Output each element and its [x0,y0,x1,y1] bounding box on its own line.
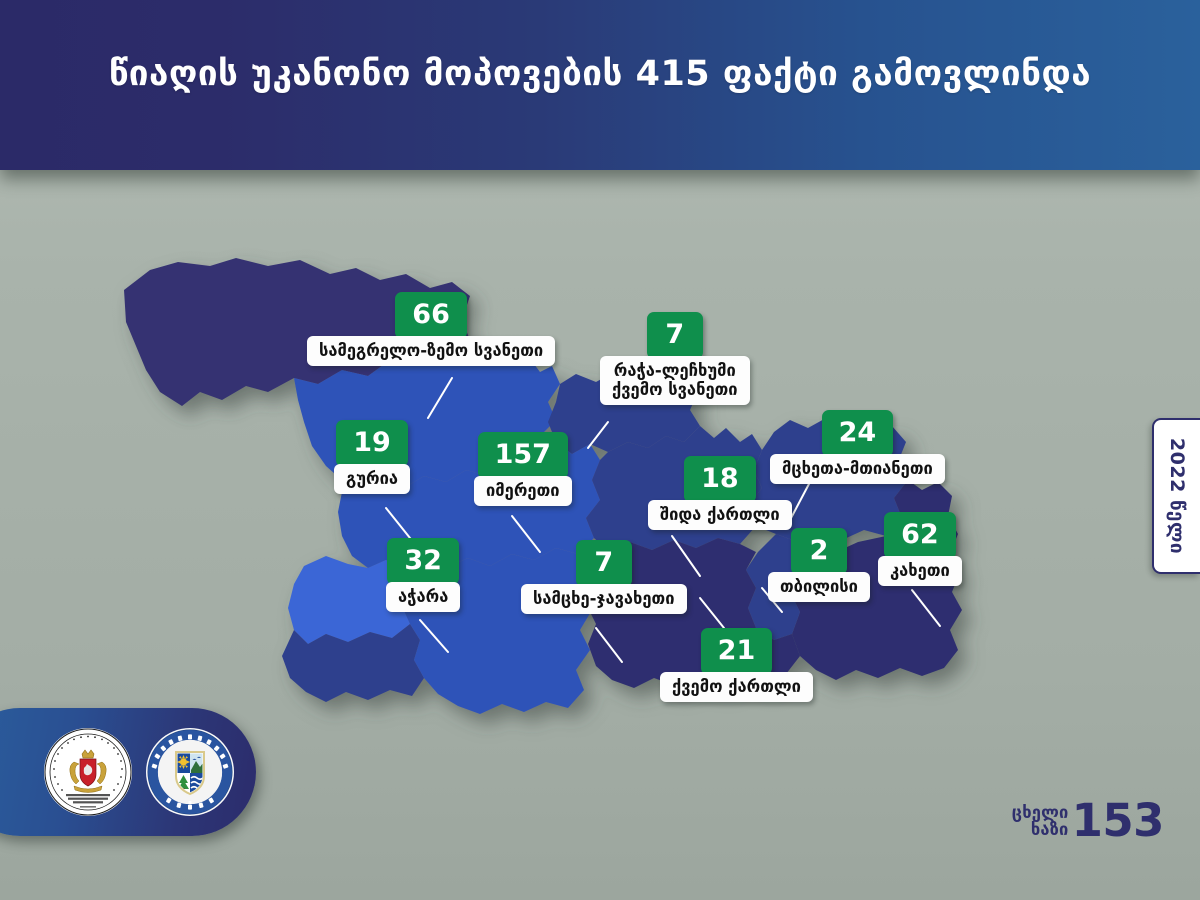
value-badge-samegrelo-zemo-svaneti: 66 [395,292,467,339]
region-label-imereti: იმერეთი [474,476,572,506]
page-title: წიაღის უკანონო მოპოვების 415 ფაქტი გამოვ… [0,52,1200,96]
marker-imereti[interactable]: 157 იმერეთი [474,432,572,506]
region-label-tbilisi: თბილისი [768,572,870,602]
marker-kakheti[interactable]: 62 კახეთი [878,512,962,586]
value-badge-kvemo-kartli: 21 [701,628,773,675]
marker-adjara[interactable]: 32 აჭარა [386,538,460,612]
value-badge-imereti: 157 [478,432,568,479]
marker-shida-kartli[interactable]: 18 შიდა ქართლი [648,456,792,530]
hotline-number: 153 [1072,801,1164,840]
region-label-guria: გურია [334,464,410,494]
value-badge-samtskhe-javakheti: 7 [576,540,632,587]
marker-kvemo-kartli[interactable]: 21 ქვემო ქართლი [660,628,813,702]
marker-guria[interactable]: 19 გურია [334,420,410,494]
value-badge-adjara: 32 [387,538,459,585]
hotline-block: ცხელი ხაზი 153 [1012,801,1164,840]
value-badge-shida-kartli: 18 [684,456,756,503]
marker-mtskheta-mtianeti[interactable]: 24 მცხეთა-მთიანეთი [770,410,945,484]
marker-samegrelo-zemo-svaneti[interactable]: 66 სამეგრელო-ზემო სვანეთი [307,292,555,366]
header-banner: წიაღის უკანონო მოპოვების 415 ფაქტი გამოვ… [0,0,1200,170]
hotline-line1: ცხელი [1012,804,1069,821]
region-label-line1: რაჭა-ლეჩხუმი [614,361,736,380]
supervision-emblem-icon [146,728,234,816]
marker-tbilisi[interactable]: 2 თბილისი [768,528,870,602]
value-badge-mtskheta-mtianeti: 24 [822,410,894,457]
hotline-words: ცხელი ხაზი [1012,804,1069,838]
value-badge-racha-lechkhumi: 7 [647,312,703,359]
region-label-shida-kartli: შიდა ქართლი [648,500,792,530]
region-label-line2: ქვემო სვანეთი [612,380,738,399]
region-label-kakheti: კახეთი [878,556,962,586]
year-tab[interactable]: 2022 წელი [1152,418,1200,574]
infographic-canvas: 66 სამეგრელო-ზემო სვანეთი 7 რაჭა-ლეჩხუმი… [0,0,1200,900]
region-label-samegrelo-zemo-svaneti: სამეგრელო-ზემო სვანეთი [307,336,555,366]
marker-samtskhe-javakheti[interactable]: 7 სამცხე-ჯავახეთი [521,540,687,614]
region-label-kvemo-kartli: ქვემო ქართლი [660,672,813,702]
value-badge-kakheti: 62 [884,512,956,559]
ministry-emblem-icon [44,728,132,816]
logo-pill [0,708,256,836]
marker-racha-lechkhumi-kvemo-svaneti[interactable]: 7 რაჭა-ლეჩხუმი ქვემო სვანეთი [600,312,750,405]
region-label-racha-lechkhumi: რაჭა-ლეჩხუმი ქვემო სვანეთი [600,356,750,405]
region-label-samtskhe-javakheti: სამცხე-ჯავახეთი [521,584,687,614]
year-tab-label: 2022 წელი [1166,438,1188,554]
region-label-mtskheta-mtianeti: მცხეთა-მთიანეთი [770,454,945,484]
value-badge-tbilisi: 2 [791,528,847,575]
region-label-adjara: აჭარა [386,582,460,612]
hotline-line2: ხაზი [1012,821,1069,838]
value-badge-guria: 19 [336,420,408,467]
